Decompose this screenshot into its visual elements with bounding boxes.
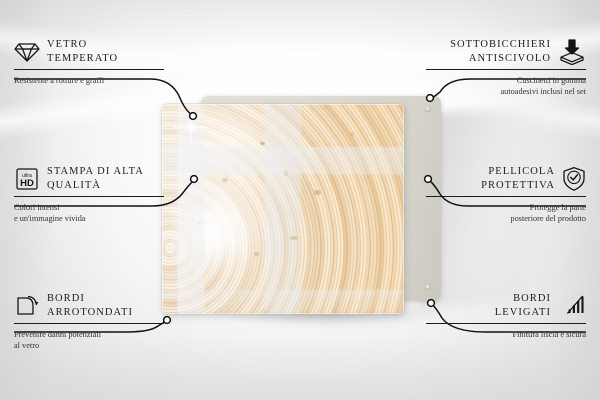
feature-header: BORDI LEVIGATI	[426, 292, 586, 319]
feature-divider	[426, 323, 586, 324]
feature-title: VETRO TEMPERATO	[47, 38, 118, 65]
feature-divider	[426, 196, 586, 197]
feature-header: SOTTOBICCHIERI ANTISCIVOLO	[426, 38, 586, 65]
smooth-edges-icon	[558, 294, 586, 318]
ultra-hd-icon-main-text: HD	[20, 178, 34, 189]
feature-title: BORDI ARROTONDATI	[47, 292, 133, 319]
feature-title: SOTTOBICCHIERI ANTISCIVOLO	[450, 38, 551, 65]
feature-description: Cuscinetti in gomma autoadesivi inclusi …	[426, 75, 586, 97]
feature-bordi-arrotondati: BORDI ARROTONDATI Prevenire danni potenz…	[14, 292, 164, 351]
feature-stampa-di-alta-qualita: ultra HD STAMPA DI ALTA QUALITÀ Colori i…	[14, 165, 164, 224]
scene-background: VETRO TEMPERATO Resistente a rotture e g…	[0, 0, 600, 400]
feature-description: Protegge la parte posteriore del prodott…	[426, 202, 586, 224]
feature-description: Finitura liscia e sicura	[426, 329, 586, 340]
anti-slip-pad-icon	[558, 39, 586, 65]
feature-description: Prevenire danni potenziali al vetro	[14, 329, 164, 351]
shield-check-icon	[562, 166, 586, 192]
feature-description: Resistente a rotture e graffi	[14, 75, 164, 86]
anti-slip-pad	[425, 284, 431, 290]
feature-vetro-temperato: VETRO TEMPERATO Resistente a rotture e g…	[14, 38, 164, 86]
feature-header: BORDI ARROTONDATI	[14, 292, 164, 319]
feature-title: BORDI LEVIGATI	[495, 292, 551, 319]
feature-description: Colori intensi e un'immagine vivida	[14, 202, 164, 224]
anti-slip-pad	[425, 106, 431, 112]
feature-pellicola-protettiva: PELLICOLA PROTETTIVA Protegge la parte p…	[426, 165, 586, 224]
product-glass-board	[162, 104, 404, 314]
feature-title: PELLICOLA PROTETTIVA	[481, 165, 555, 192]
feature-divider	[426, 69, 586, 70]
glass-board-edge	[162, 104, 404, 314]
feature-divider	[14, 196, 164, 197]
rounded-corner-icon	[14, 294, 40, 318]
diamond-icon	[14, 41, 40, 63]
feature-header: PELLICOLA PROTETTIVA	[426, 165, 586, 192]
feature-divider	[14, 323, 164, 324]
feature-bordi-levigati: BORDI LEVIGATI Finitura liscia e sicura	[426, 292, 586, 340]
feature-sottobicchieri-antiscivolo: SOTTOBICCHIERI ANTISCIVOLO Cuscinetti in…	[426, 38, 586, 97]
feature-title: STAMPA DI ALTA QUALITÀ	[47, 165, 144, 192]
feature-divider	[14, 69, 164, 70]
feature-header: VETRO TEMPERATO	[14, 38, 164, 65]
feature-header: ultra HD STAMPA DI ALTA QUALITÀ	[14, 165, 164, 192]
ultra-hd-icon: ultra HD	[14, 167, 40, 191]
